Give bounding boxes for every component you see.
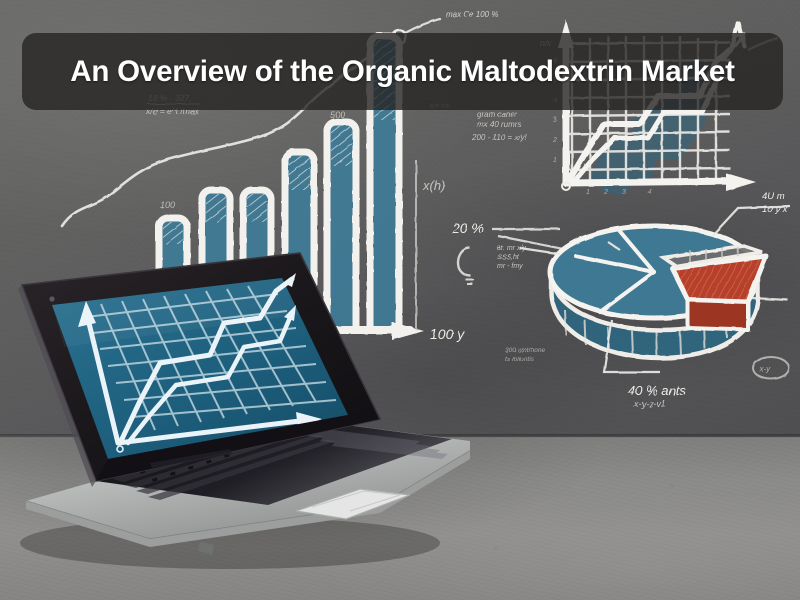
page-title: An Overview of the Organic Maltodextrin … xyxy=(70,55,735,89)
title-banner: An Overview of the Organic Maltodextrin … xyxy=(22,33,783,110)
hero-image: max Ce 100 % 10 % - 327, x/d = e^t /max xyxy=(0,0,800,600)
laptop xyxy=(0,243,470,573)
